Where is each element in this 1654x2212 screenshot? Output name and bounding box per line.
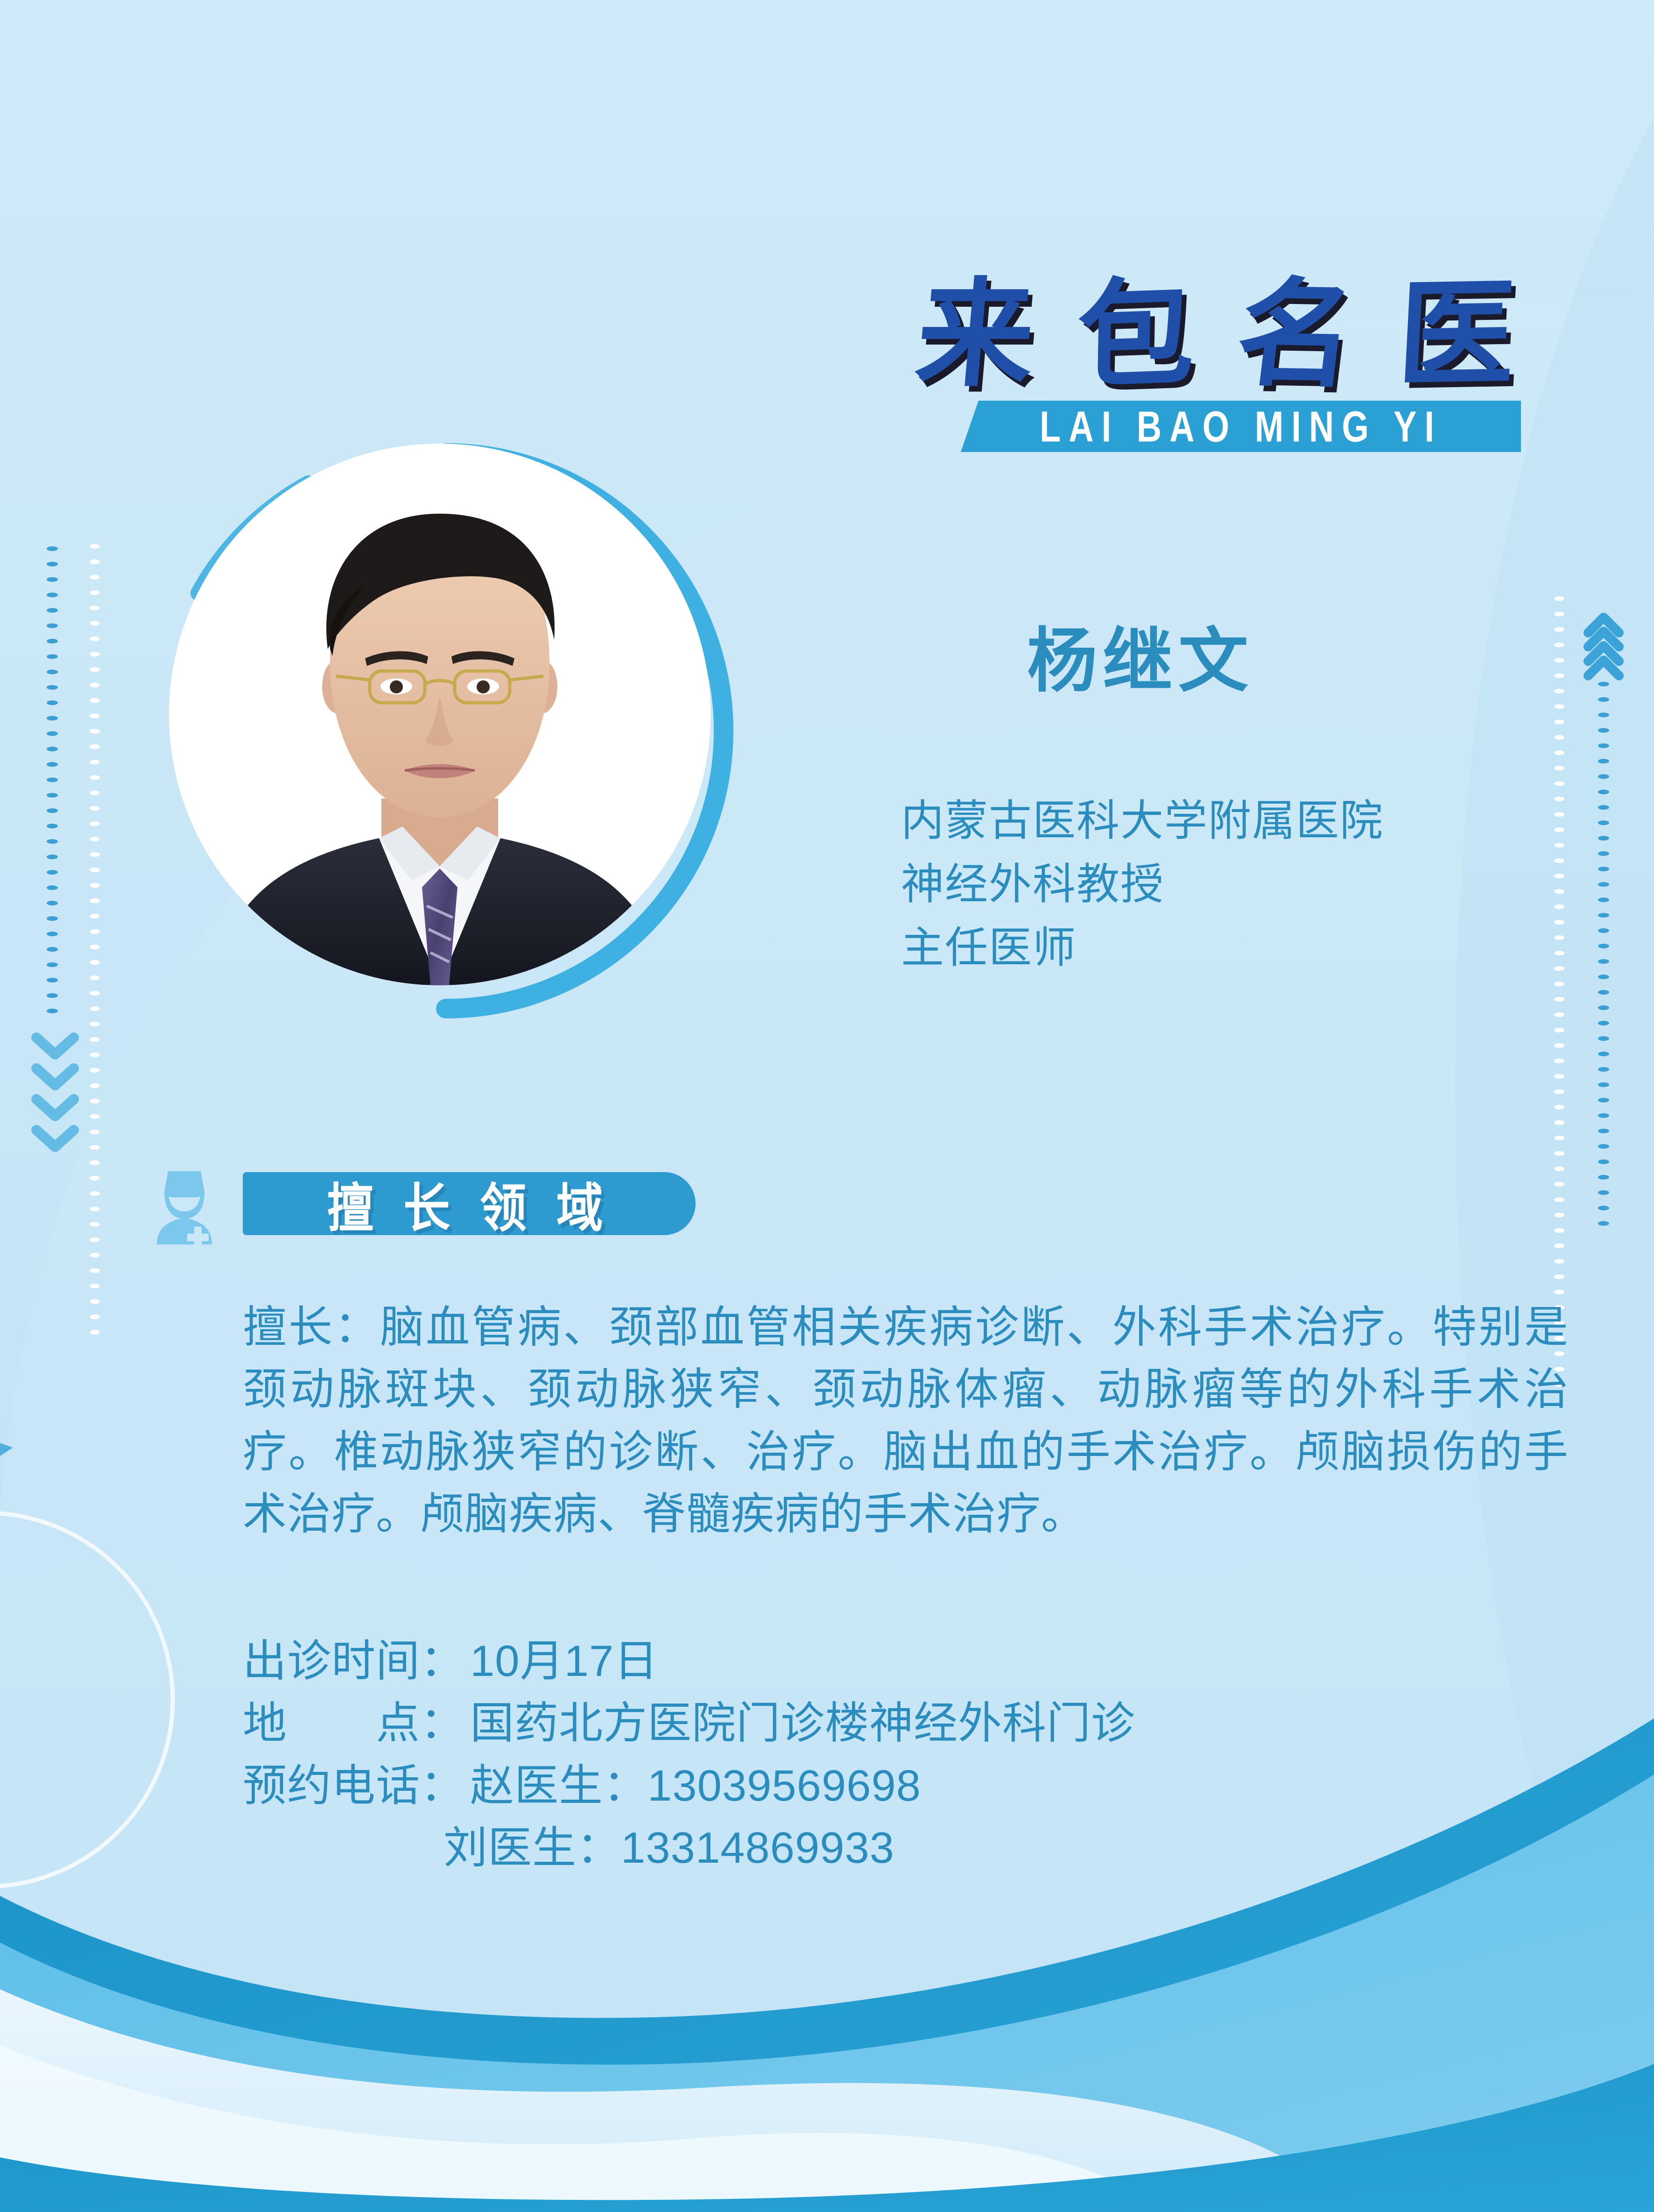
credential-line-3: 主任医师 (901, 916, 1555, 980)
logo-calligraphy: 来 包 名 医 (901, 252, 1531, 392)
left-blue-dotted-line (47, 546, 58, 1013)
appointment-time-label: 出诊时间： (243, 1630, 465, 1692)
right-decor-strip (1531, 584, 1653, 1401)
appointment-phone-secondary[interactable]: 刘医生：13314869933 (443, 1816, 894, 1879)
expertise-header: 擅 长 领 域 (149, 1163, 696, 1244)
logo-char-4: 医 (1395, 275, 1518, 393)
logo-char-1: 来 (912, 276, 1039, 392)
expertise-badge: 擅 长 领 域 (243, 1172, 696, 1235)
appointment-location-label: 地 点： (243, 1692, 465, 1754)
logo-char-2: 包 (1077, 274, 1196, 395)
credential-line-1: 内蒙古医科大学附属医院 (901, 789, 1555, 853)
surgeon-icon (149, 1163, 219, 1244)
expertise-badge-label: 擅 长 领 域 (327, 1166, 611, 1241)
expertise-description: 擅长：脑血管病、颈部血管相关疾病诊断、外科手术治疗。特别是颈动脉斑块、颈动脉狭窄… (243, 1296, 1569, 1545)
logo-pinyin-banner: LAI BAO MING YI (961, 401, 1521, 452)
appointment-info: 出诊时间： 10月17日 地 点： 国药北方医院门诊楼神经外科门诊 预约电话： … (243, 1630, 1550, 1879)
logo-char-3: 名 (1231, 275, 1362, 393)
credential-line-2: 神经外科教授 (901, 853, 1555, 916)
poster-canvas: 来 包 名 医 LAI BAO MING YI (0, 0, 1654, 2212)
page-title: 杨继文 (1027, 626, 1254, 696)
doctor-portrait (154, 439, 738, 1023)
portrait-photo (169, 444, 711, 985)
right-blue-dotted-line (1598, 682, 1609, 1226)
appointment-location-value: 国药北方医院门诊楼神经外科门诊 (470, 1692, 1135, 1754)
left-decor-strip (19, 542, 126, 1336)
right-white-dotted-line (1554, 596, 1564, 1387)
portrait-illustration (169, 444, 711, 985)
doctor-credentials: 内蒙古医科大学附属医院 神经外科教授 主任医师 (901, 789, 1555, 980)
appointment-location-row: 地 点： 国药北方医院门诊楼神经外科门诊 (243, 1692, 1550, 1754)
left-chevron-group (36, 1038, 74, 1147)
brand-logo: 来 包 名 医 LAI BAO MING YI (901, 252, 1531, 452)
right-chevron-group (1588, 617, 1619, 676)
appointment-time-value: 10月17日 (470, 1630, 658, 1692)
left-white-dotted-line (90, 544, 100, 1335)
appointment-phone-row-secondary: 刘医生：13314869933 (243, 1816, 1550, 1879)
appointment-phone-primary[interactable]: 赵医生：13039569698 (470, 1754, 921, 1816)
logo-pinyin-text: LAI BAO MING YI (1040, 402, 1442, 451)
appointment-phone-label: 预约电话： (243, 1754, 465, 1816)
appointment-phone-row: 预约电话： 赵医生：13039569698 (243, 1754, 1550, 1816)
appointment-time-row: 出诊时间： 10月17日 (243, 1630, 1550, 1692)
